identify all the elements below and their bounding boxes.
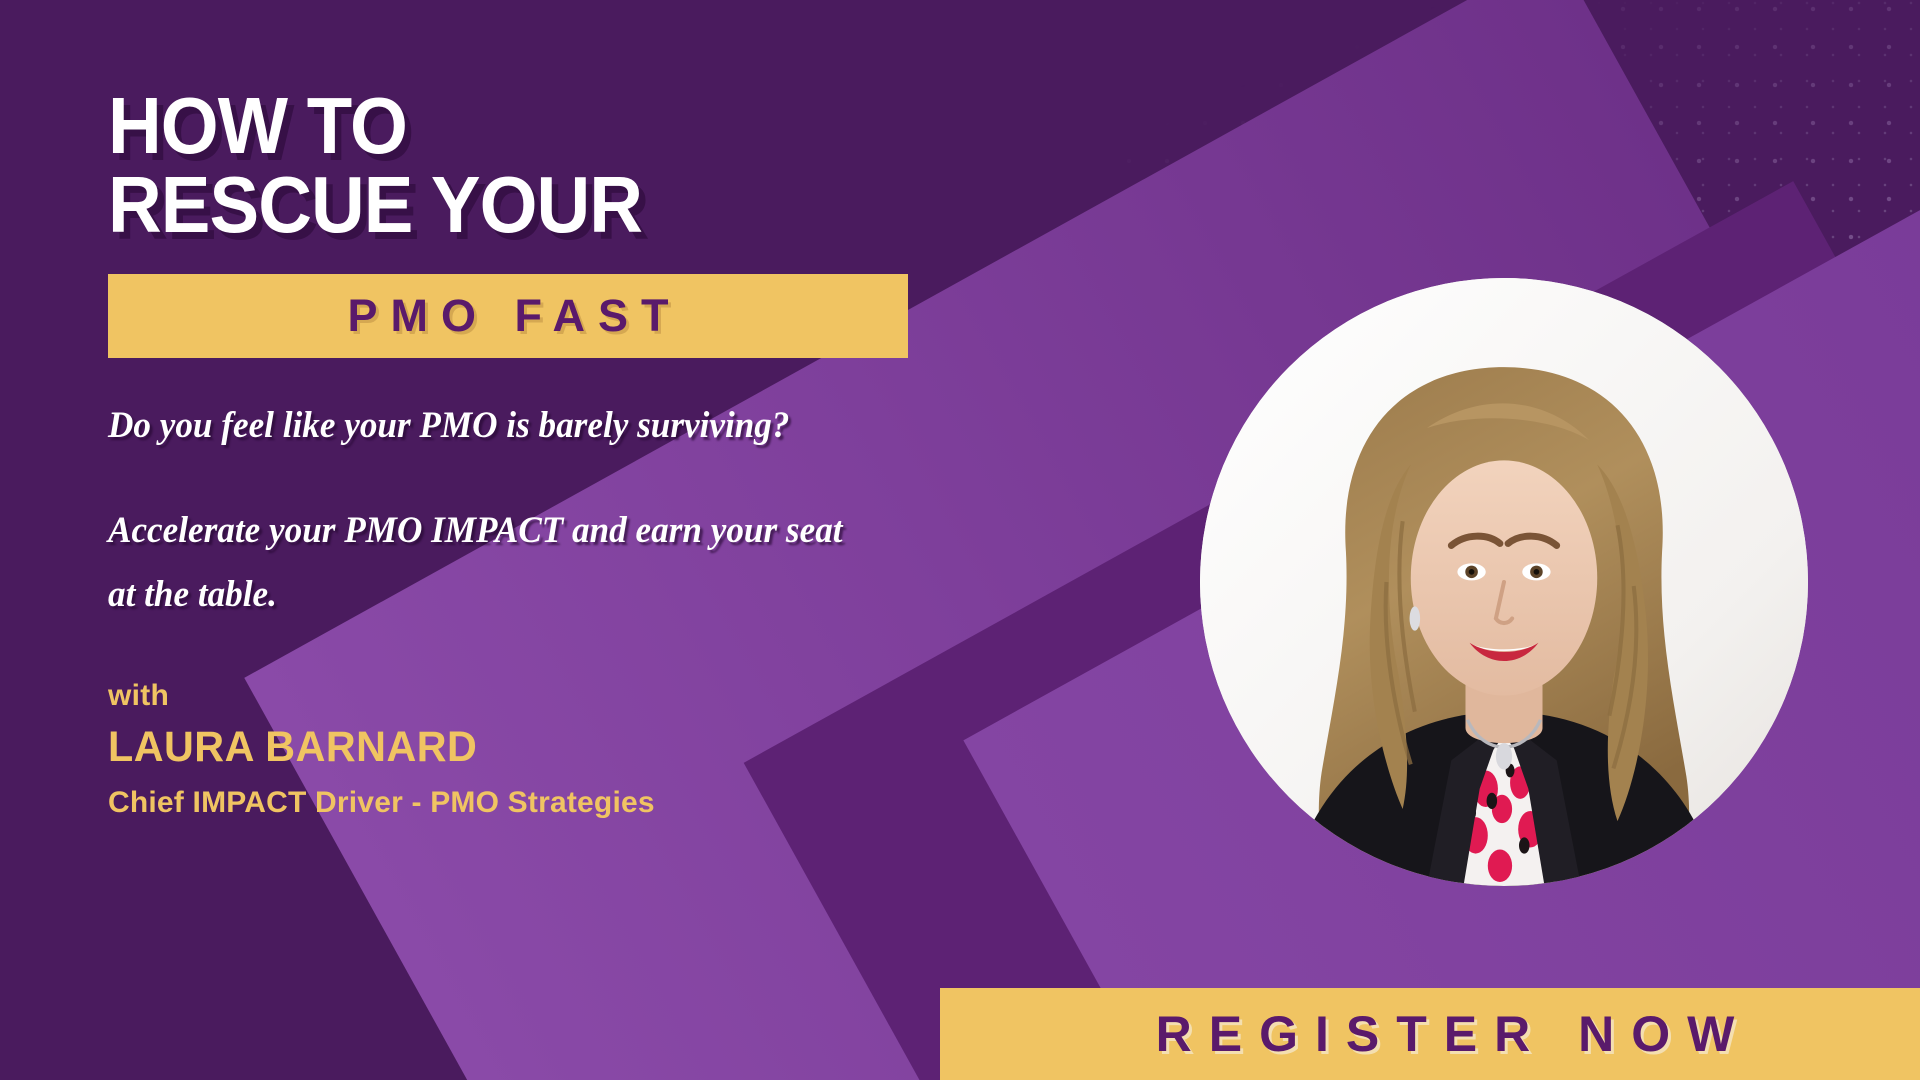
halftone-dots-fine-pattern bbox=[1170, 0, 1920, 320]
register-now-label: REGISTER NOW bbox=[1139, 1005, 1752, 1063]
headline-line-1: HOW TO bbox=[108, 81, 407, 170]
with-label: with bbox=[108, 679, 968, 713]
speaker-title: Chief IMPACT Driver - PMO Strategies bbox=[108, 786, 968, 820]
content-column: HOW TO RESCUE YOUR PMO FAST Do you feel … bbox=[108, 0, 968, 820]
speaker-portrait bbox=[1200, 278, 1808, 886]
webinar-promo-banner: HOW TO RESCUE YOUR PMO FAST Do you feel … bbox=[0, 0, 1920, 1080]
page-title: HOW TO RESCUE YOUR bbox=[108, 86, 908, 244]
highlight-band: PMO FAST bbox=[108, 274, 908, 358]
headline-line-2: RESCUE YOUR bbox=[108, 165, 908, 244]
speaker-name: LAURA BARNARD bbox=[108, 723, 934, 772]
body-copy: Accelerate your PMO IMPACT and earn your… bbox=[108, 499, 878, 626]
tagline-question: Do you feel like your PMO is barely surv… bbox=[108, 404, 925, 447]
register-now-button[interactable]: REGISTER NOW bbox=[940, 988, 1920, 1080]
highlight-band-text: PMO FAST bbox=[334, 290, 681, 342]
